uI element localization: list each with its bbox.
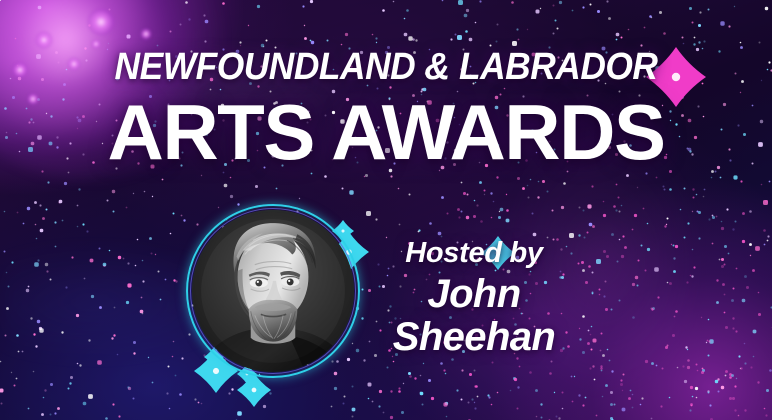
headline-group: NEWFOUNDLAND & LABRADOR ARTS AWARDS	[0, 48, 772, 170]
portrait-cyan-ring	[186, 204, 360, 378]
host-credit-group: Hosted by John Sheehan	[384, 238, 564, 359]
host-first-name: John	[384, 273, 564, 316]
host-portrait	[186, 204, 360, 378]
page-title: ARTS AWARDS	[0, 94, 772, 170]
sparkle-portrait-bottom-mid	[237, 373, 271, 407]
host-label: Hosted by	[384, 238, 564, 269]
host-name: John Sheehan	[384, 273, 564, 359]
page-kicker: NEWFOUNDLAND & LABRADOR	[27, 48, 745, 86]
host-last-name: Sheehan	[384, 316, 564, 359]
arts-awards-banner: NEWFOUNDLAND & LABRADOR ARTS AWARDS	[0, 0, 772, 420]
